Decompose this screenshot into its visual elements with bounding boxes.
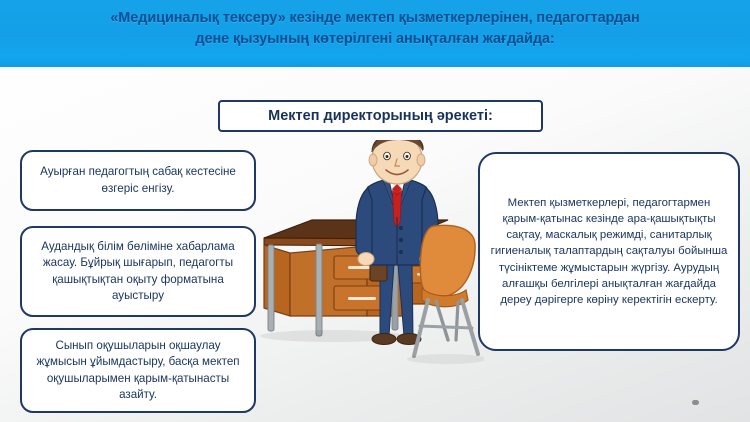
action-box-isolate-class-students-text: Сынып оқушыларын оқшаулау жұмысын ұйымда…: [22, 338, 254, 404]
director-action-title-box: Мектеп директорының әрекеті:: [218, 100, 543, 132]
header-title-line2: дене қызуының көтерілгені анықталған жағ…: [0, 29, 750, 50]
header-banner: «Медициналық тексеру» кезінде мектеп қыз…: [0, 0, 750, 67]
action-box-notify-district-education: Аудандық білім бөліміне хабарлама жасау.…: [20, 226, 256, 317]
action-box-staff-briefing: Мектеп қызметкерлері, педагогтармен қары…: [478, 152, 740, 351]
action-box-schedule-change-text: Ауырған педагогтың сабақ кестесіне өзгер…: [22, 164, 254, 197]
header-title-line1: «Медициналық тексеру» кезінде мектеп қыз…: [110, 10, 639, 26]
action-box-staff-briefing-text: Мектеп қызметкерлері, педагогтармен қары…: [480, 195, 738, 308]
action-box-notify-district-education-text: Аудандық білім бөліміне хабарлама жасау.…: [22, 239, 254, 305]
action-box-isolate-class-students: Сынып оқушыларын оқшаулау жұмысын ұйымда…: [20, 328, 256, 413]
corner-dot-decoration: [692, 400, 699, 405]
director-at-desk-illustration: [252, 140, 484, 382]
director-action-title-label: Мектеп директорының әрекеті:: [220, 107, 541, 125]
slide-canvas: «Медициналық тексеру» кезінде мектеп қыз…: [0, 0, 750, 422]
action-box-schedule-change: Ауырған педагогтың сабақ кестесіне өзгер…: [20, 150, 256, 211]
header-title: «Медициналық тексеру» кезінде мектеп қыз…: [0, 8, 750, 50]
